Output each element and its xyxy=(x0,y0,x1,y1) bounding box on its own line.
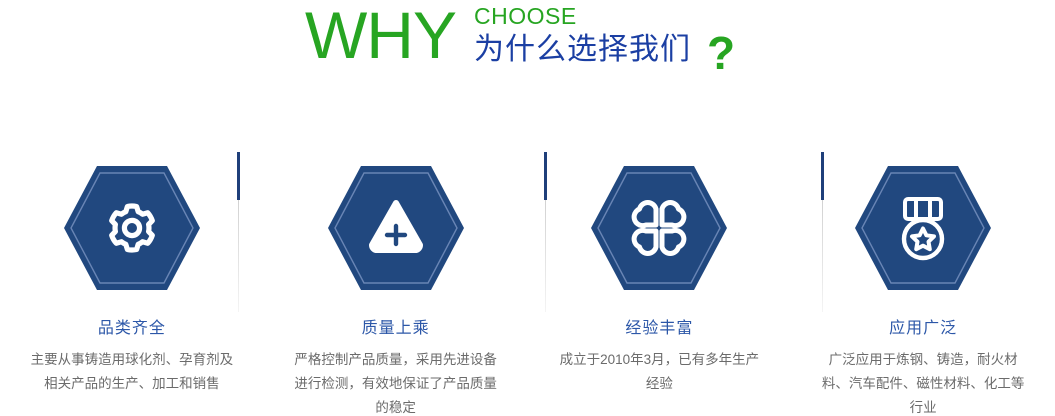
feature-card-description: 成立于2010年3月，已有多年生产经验 xyxy=(557,348,762,396)
feature-card-3[interactable]: 经验丰富 成立于2010年3月，已有多年生产经验 xyxy=(528,150,792,416)
card-divider-3 xyxy=(821,152,824,312)
hexagon-badge-4 xyxy=(853,164,993,292)
clover-icon xyxy=(589,164,729,292)
triangle-plus-icon xyxy=(326,164,466,292)
feature-card-1[interactable]: 品类齐全 主要从事铸造用球化剂、孕育剂及相关产品的生产、加工和销售 xyxy=(0,150,264,416)
heading-choose: CHOOSE xyxy=(474,4,735,29)
header-inner: WHY CHOOSE 为什么选择我们 ? xyxy=(305,2,735,70)
section-header: WHY CHOOSE 为什么选择我们 ? xyxy=(0,0,1055,96)
divider-grey-segment xyxy=(238,200,239,312)
feature-card-description: 主要从事铸造用球化剂、孕育剂及相关产品的生产、加工和销售 xyxy=(29,348,234,396)
heading-right-column: CHOOSE 为什么选择我们 ? xyxy=(474,2,735,70)
divider-grey-segment xyxy=(822,200,823,312)
divider-blue-segment xyxy=(821,152,824,200)
divider-blue-segment xyxy=(544,152,547,200)
divider-blue-segment xyxy=(237,152,240,200)
feature-card-description: 广泛应用于炼钢、铸造，耐火材料、汽车配件、磁性材料、化工等行业 xyxy=(821,348,1026,416)
heading-chinese-title: 为什么选择我们 xyxy=(474,33,691,67)
feature-card-title: 经验丰富 xyxy=(625,319,693,339)
feature-card-4[interactable]: 应用广泛 广泛应用于炼钢、铸造，耐火材料、汽车配件、磁性材料、化工等行业 xyxy=(791,150,1055,416)
card-divider-1 xyxy=(237,152,240,312)
hexagon-badge-1 xyxy=(62,164,202,292)
feature-card-title: 质量上乘 xyxy=(362,319,430,339)
feature-card-title: 品类齐全 xyxy=(98,319,166,339)
feature-card-2[interactable]: 质量上乘 严格控制产品质量，采用先进设备进行检测，有效地保证了产品质量的稳定 xyxy=(264,150,528,416)
gear-icon xyxy=(62,164,202,292)
feature-cards-row: 品类齐全 主要从事铸造用球化剂、孕育剂及相关产品的生产、加工和销售 质量上乘 严… xyxy=(0,150,1055,416)
heading-cn-row: 为什么选择我们 ? xyxy=(474,30,735,70)
card-divider-2 xyxy=(544,152,547,312)
heading-why: WHY xyxy=(305,2,456,68)
question-mark-icon: ? xyxy=(707,33,735,73)
feature-card-description: 严格控制产品质量，采用先进设备进行检测，有效地保证了产品质量的稳定 xyxy=(293,348,498,416)
medal-icon xyxy=(853,164,993,292)
why-choose-us-section: WHY CHOOSE 为什么选择我们 ? xyxy=(0,0,1055,416)
hexagon-badge-2 xyxy=(326,164,466,292)
feature-card-title: 应用广泛 xyxy=(889,319,957,339)
hexagon-badge-3 xyxy=(589,164,729,292)
divider-grey-segment xyxy=(545,200,546,312)
